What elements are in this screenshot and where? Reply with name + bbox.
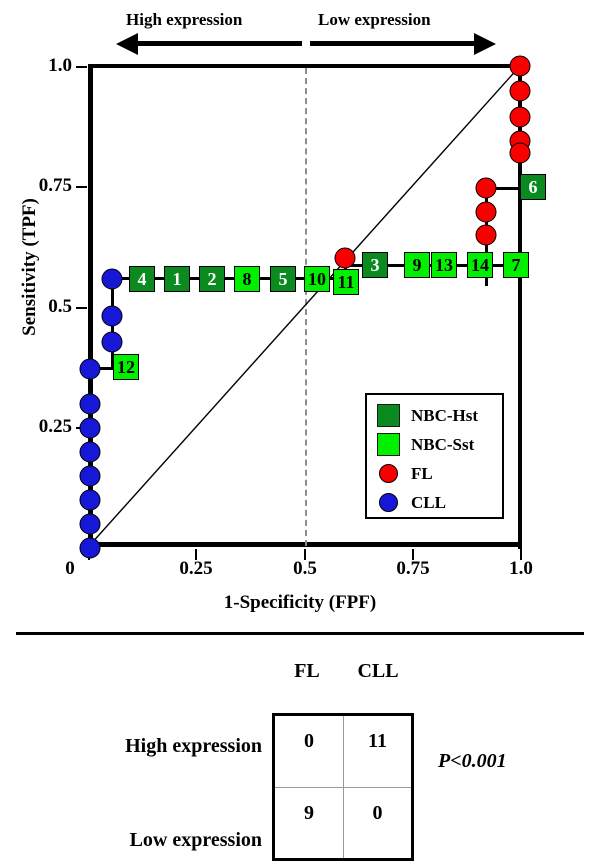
table-cell-high-cll: 11 (343, 716, 411, 787)
table-cell-high-fl: 0 (275, 716, 343, 787)
low-expression-arrow-shaft (310, 41, 474, 46)
ytick-label-1.0: 1.0 (0, 55, 72, 77)
table-row: 0 11 (275, 716, 411, 787)
nbc-hst-node-6: 6 (520, 174, 546, 200)
fl-point (510, 81, 531, 102)
cll-point (80, 490, 101, 511)
xtick-label-0.5: 0.5 (293, 558, 317, 580)
nbc-sst-node-7: 7 (503, 252, 529, 278)
nbc-sst-node-9: 9 (404, 252, 430, 278)
legend-swatch-cll (379, 493, 398, 512)
contingency-table: 0 11 9 0 (272, 713, 414, 861)
fl-point (476, 202, 497, 223)
legend-label-fl: FL (411, 464, 433, 484)
cll-point (80, 466, 101, 487)
nbc-hst-node-1: 1 (164, 266, 190, 292)
cll-point (102, 306, 123, 327)
nbc-sst-node-14: 14 (467, 252, 493, 278)
fl-point (476, 225, 497, 246)
cll-point (80, 418, 101, 439)
nbc-hst-node-5: 5 (270, 266, 296, 292)
low-expression-label: Low expression (318, 10, 431, 30)
xtick-label-0.75: 0.75 (396, 558, 429, 580)
high-expression-arrow-shaft (138, 41, 302, 46)
nbc-hst-node-4: 4 (129, 266, 155, 292)
table-cell-low-cll: 0 (343, 788, 411, 858)
ytick-0.75 (76, 186, 87, 188)
legend-swatch-nbc-hst (377, 404, 400, 427)
y-axis-title: Sensitivity (TPF) (19, 117, 41, 417)
xtick-label-0: 0 (65, 558, 75, 580)
legend-item-fl: FL (377, 459, 502, 488)
cll-point (80, 514, 101, 535)
nbc-sst-node-10: 10 (304, 266, 330, 292)
fl-point (510, 143, 531, 164)
table-column-header-cll: CLL (357, 660, 398, 683)
legend-label-nbc-sst: NBC-Sst (411, 435, 474, 455)
legend: NBC-Hst NBC-Sst FL CLL (365, 393, 504, 519)
cll-point (80, 442, 101, 463)
cll-point (80, 359, 101, 380)
fl-point (510, 56, 531, 77)
table-row-label-high: High expression (2, 735, 262, 758)
pvalue-label: P<0.001 (438, 750, 507, 773)
left-arrow-head-icon (116, 33, 138, 55)
figure-root: High expression Low expression 1.0 0.75 … (0, 0, 600, 867)
nbc-sst-node-13: 13 (431, 252, 457, 278)
legend-item-nbc-sst: NBC-Sst (377, 430, 502, 459)
midpoint-dashed-line (305, 68, 307, 546)
xtick-label-1.0: 1.0 (509, 558, 533, 580)
ytick-1.0 (76, 66, 87, 68)
cll-point (80, 394, 101, 415)
nbc-sst-node-11: 11 (333, 269, 359, 295)
cll-point (102, 332, 123, 353)
table-row: 9 0 (275, 787, 411, 858)
ytick-label-0.25: 0.25 (0, 416, 72, 438)
table-column-header-fl: FL (294, 660, 320, 683)
fl-point (510, 107, 531, 128)
horizontal-divider (16, 632, 584, 635)
nbc-hst-node-3: 3 (362, 252, 388, 278)
x-axis-title: 1-Specificity (FPF) (0, 592, 600, 614)
fl-point (476, 178, 497, 199)
nbc-sst-node-8: 8 (234, 266, 260, 292)
cll-point (102, 269, 123, 290)
legend-item-nbc-hst: NBC-Hst (377, 401, 502, 430)
right-arrow-head-icon (474, 33, 496, 55)
table-cell-low-fl: 9 (275, 788, 343, 858)
legend-label-cll: CLL (411, 493, 446, 513)
xtick-label-0.25: 0.25 (179, 558, 212, 580)
legend-swatch-fl (379, 464, 398, 483)
legend-item-cll: CLL (377, 488, 502, 517)
nbc-sst-node-12: 12 (113, 354, 139, 380)
high-expression-label: High expression (126, 10, 242, 30)
table-row-label-low: Low expression (2, 829, 262, 852)
legend-swatch-nbc-sst (377, 433, 400, 456)
ytick-0.5 (76, 307, 87, 309)
fl-point (335, 248, 356, 269)
nbc-hst-node-2: 2 (199, 266, 225, 292)
cll-point (80, 538, 101, 559)
legend-label-nbc-hst: NBC-Hst (411, 406, 478, 426)
